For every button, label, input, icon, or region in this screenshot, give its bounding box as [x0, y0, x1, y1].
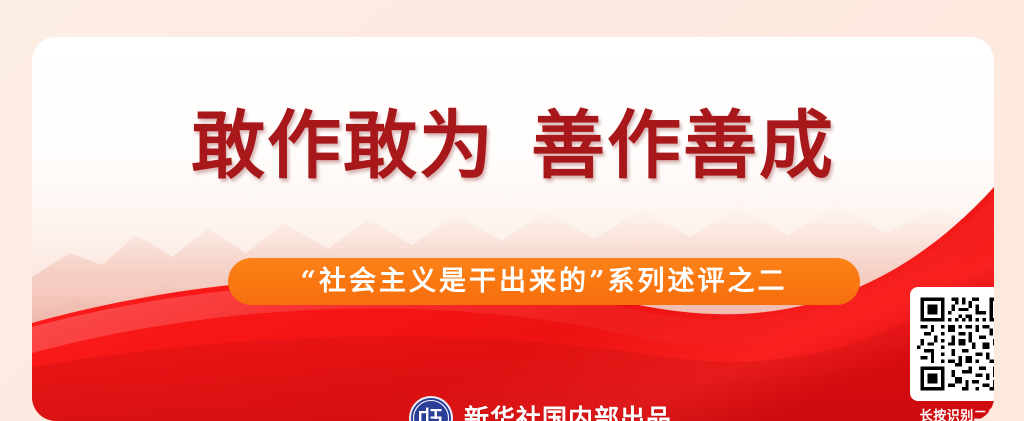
subtitle-text: “社会主义是干出来的”系列述评之二	[300, 268, 787, 295]
poster-card: 敢作敢为善作善成 “社会主义是干出来的”系列述评之二	[32, 37, 994, 421]
agency-credit-text: 新华社国内部出品	[464, 406, 672, 421]
xinhua-emblem-icon: XINHUA	[408, 395, 454, 421]
qr-block[interactable]: 长按识别二维码 阅读全文	[908, 287, 994, 421]
qr-caption-line-1: 长按识别二维码	[908, 408, 994, 421]
page-title: 敢作敢为善作善成	[32, 109, 994, 183]
headline-part-2: 善作善成	[531, 103, 835, 189]
subtitle-banner: “社会主义是干出来的”系列述评之二	[228, 258, 860, 305]
qr-caption: 长按识别二维码 阅读全文	[908, 408, 994, 421]
poster-canvas: 敢作敢为善作善成 “社会主义是干出来的”系列述评之二	[0, 0, 1024, 421]
agency-credit: XINHUA 新华社国内部出品	[408, 395, 672, 421]
qr-code-icon[interactable]	[910, 287, 994, 401]
headline-part-1: 敢作敢为	[191, 103, 495, 189]
